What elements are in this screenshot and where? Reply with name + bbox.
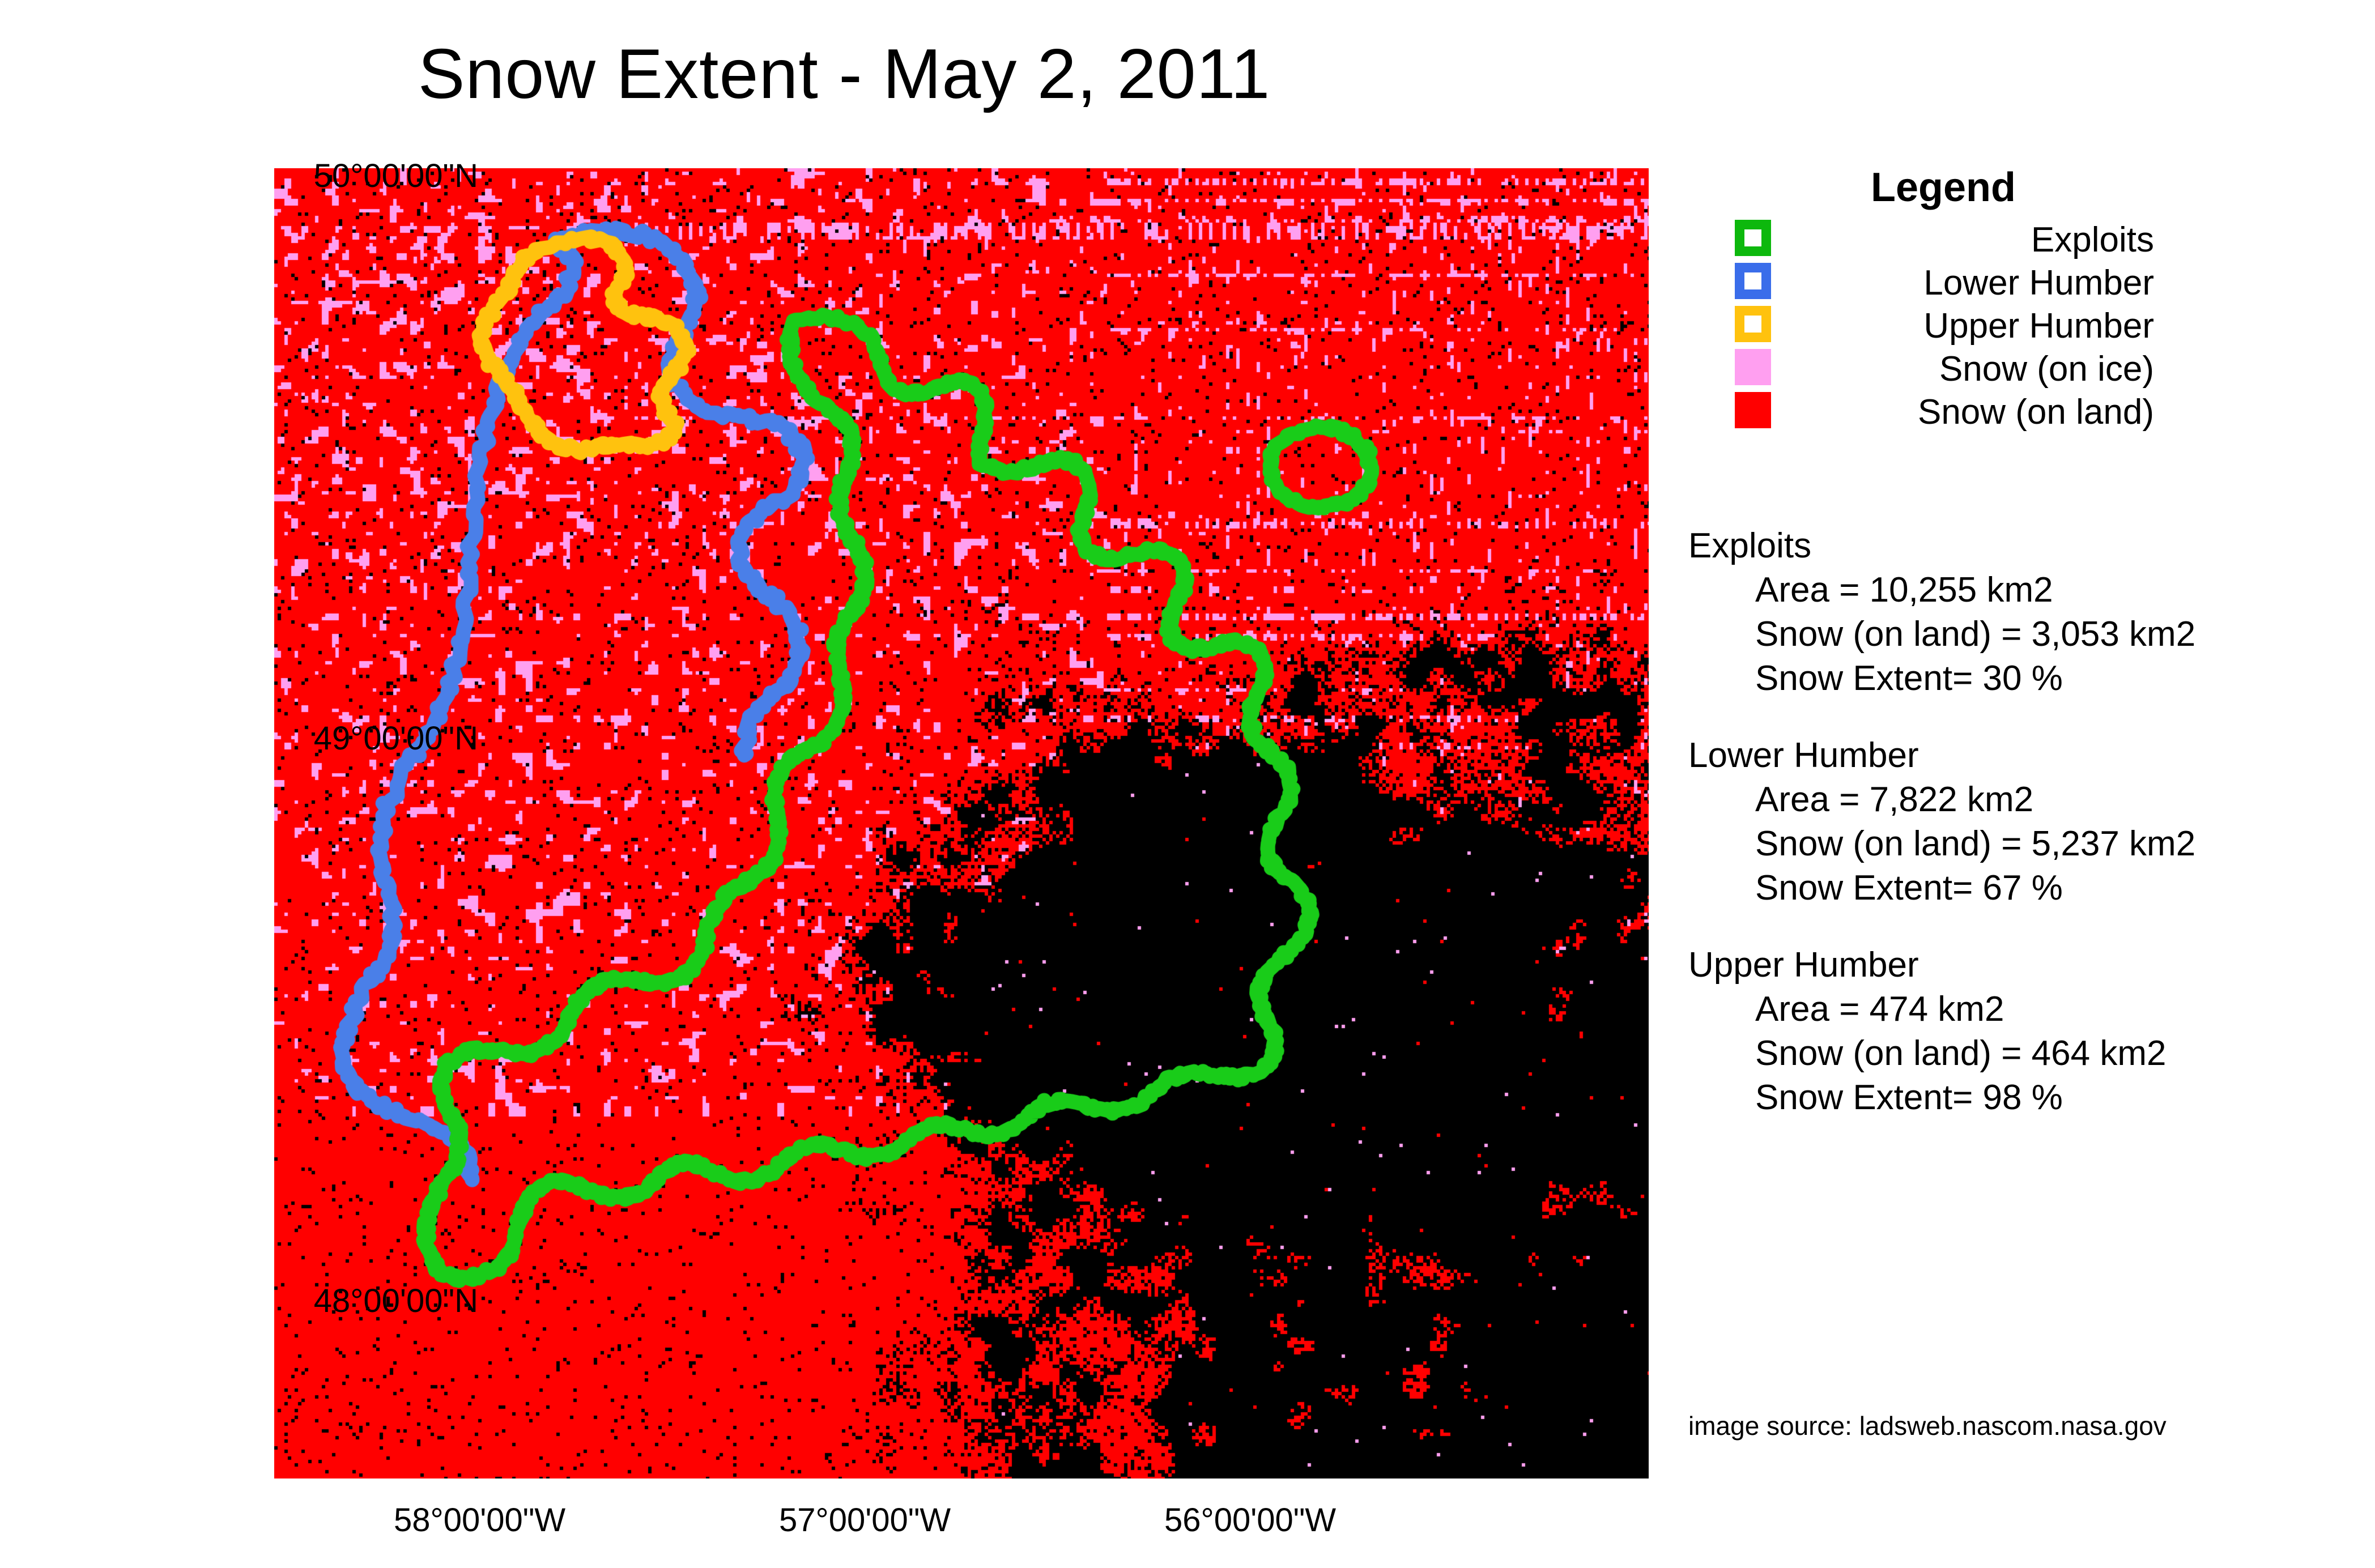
snow-on-land-swatch-icon <box>1735 392 1771 428</box>
lat-tick-50N: 50°00'00"N <box>314 157 478 195</box>
snow-extent-raster-map[interactable] <box>274 168 1649 1478</box>
lon-tick-56W: 56°00'00"W <box>1164 1501 1336 1539</box>
legend: Legend Exploits Lower Humber Upper Humbe… <box>1694 164 2346 435</box>
stat-basin-name: Lower Humber <box>1688 734 2368 778</box>
stat-snow-on-land: Snow (on land) = 5,237 km2 <box>1688 822 2368 866</box>
stat-area: Area = 7,822 km2 <box>1688 778 2368 822</box>
legend-item-exploits[interactable]: Exploits <box>1694 220 2346 263</box>
lat-tick-49N: 49°00'00"N <box>314 719 478 757</box>
upper-humber-swatch-icon <box>1735 306 1771 342</box>
exploits-swatch-icon <box>1735 220 1771 256</box>
stat-snow-extent: Snow Extent= 67 % <box>1688 866 2368 910</box>
stat-basin-name: Exploits <box>1688 524 2368 568</box>
lat-tick-48N: 48°00'00"N <box>314 1282 478 1320</box>
snow-on-ice-swatch-icon <box>1735 349 1771 385</box>
stat-block-upper-humber: Upper Humber Area = 474 km2 Snow (on lan… <box>1688 943 2368 1120</box>
stat-snow-extent: Snow Extent= 30 % <box>1688 657 2368 701</box>
stat-basin-name: Upper Humber <box>1688 943 2368 987</box>
image-source-caption: image source: ladsweb.nascom.nasa.gov <box>1688 1411 2167 1441</box>
legend-item-snow-on-land[interactable]: Snow (on land) <box>1694 392 2346 435</box>
stat-snow-on-land: Snow (on land) = 464 km2 <box>1688 1032 2368 1076</box>
stat-area: Area = 474 km2 <box>1688 987 2368 1032</box>
legend-item-lower-humber[interactable]: Lower Humber <box>1694 263 2346 306</box>
stat-block-exploits: Exploits Area = 10,255 km2 Snow (on land… <box>1688 524 2368 701</box>
legend-items: Exploits Lower Humber Upper Humber Snow … <box>1694 220 2346 435</box>
stat-snow-on-land: Snow (on land) = 3,053 km2 <box>1688 612 2368 657</box>
stat-block-lower-humber: Lower Humber Area = 7,822 km2 Snow (on l… <box>1688 734 2368 910</box>
page-title: Snow Extent - May 2, 2011 <box>0 34 1688 114</box>
legend-title: Legend <box>1694 164 2193 211</box>
stat-snow-extent: Snow Extent= 98 % <box>1688 1076 2368 1120</box>
lon-tick-58W: 58°00'00"W <box>394 1501 565 1539</box>
lower-humber-swatch-icon <box>1735 263 1771 299</box>
legend-item-snow-on-ice[interactable]: Snow (on ice) <box>1694 349 2346 392</box>
legend-item-upper-humber[interactable]: Upper Humber <box>1694 306 2346 349</box>
statistics-panel: Exploits Area = 10,255 km2 Snow (on land… <box>1688 524 2368 1153</box>
lon-tick-57W: 57°00'00"W <box>779 1501 951 1539</box>
stat-area: Area = 10,255 km2 <box>1688 568 2368 612</box>
map-viewport[interactable] <box>274 168 1649 1478</box>
